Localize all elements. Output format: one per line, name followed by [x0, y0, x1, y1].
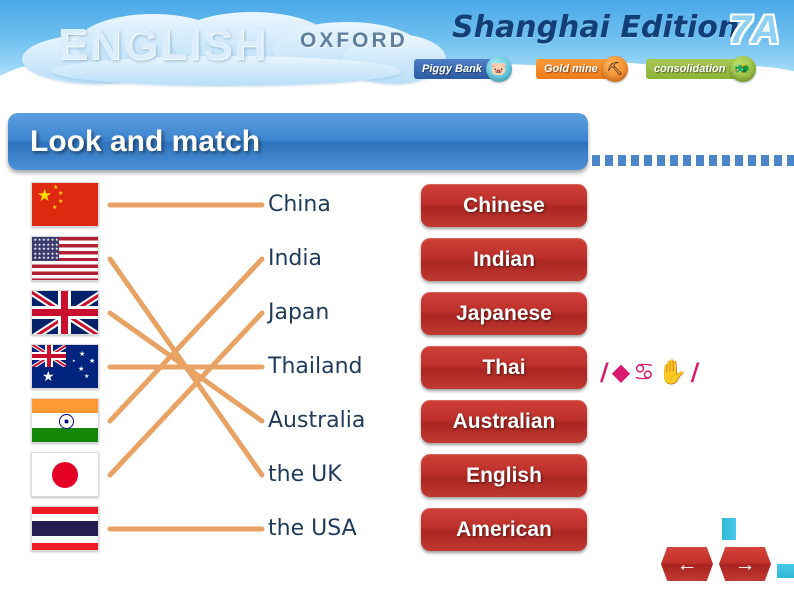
- star-icon: ★: [34, 256, 38, 260]
- nationality-button-japanese[interactable]: Japanese: [421, 292, 587, 335]
- uk-flag[interactable]: [31, 290, 99, 335]
- country-label-japan[interactable]: Japan: [268, 300, 329, 325]
- edition-title: Shanghai Edition: [452, 10, 739, 45]
- slide-header: ENGLISH OXFORD Shanghai Edition 7A Piggy…: [0, 0, 794, 96]
- star-icon: ★: [72, 359, 76, 363]
- nationality-button-australian[interactable]: Australian: [421, 400, 587, 443]
- country-label-india[interactable]: India: [268, 246, 322, 271]
- consolidation-icon: 🐲: [730, 56, 756, 82]
- nationality-button-chinese[interactable]: Chinese: [421, 184, 587, 227]
- star-icon: ★: [37, 187, 52, 204]
- star-icon: ★: [42, 369, 55, 383]
- country-label-australia[interactable]: Australia: [268, 408, 365, 433]
- nationality-button-american[interactable]: American: [421, 508, 587, 551]
- title-dashed-rule: [592, 155, 794, 166]
- country-label-china[interactable]: China: [268, 192, 331, 217]
- connector-line: [110, 259, 262, 475]
- nationality-button-thai[interactable]: Thai: [421, 346, 587, 389]
- gold-mine-icon: ⛏: [602, 56, 628, 82]
- usa-flag[interactable]: ★★★★★★★★★★★★★★★★★★★★★★★★★★★★★★: [31, 236, 99, 281]
- star-icon: ★: [84, 374, 89, 380]
- level-badge: 7A: [729, 8, 780, 53]
- star-icon: ★: [79, 351, 85, 358]
- star-icon: ★: [55, 256, 59, 260]
- country-label-the-usa[interactable]: the USA: [268, 516, 357, 541]
- nationality-button-english[interactable]: English: [421, 454, 587, 497]
- phonetic-transcription: /◆♋✋/: [600, 358, 702, 386]
- slide-root: ENGLISH OXFORD Shanghai Edition 7A Piggy…: [0, 0, 794, 596]
- badge-gold-mine[interactable]: Gold mine ⛏: [536, 58, 628, 80]
- india-flag[interactable]: [31, 398, 99, 443]
- logo-english-text: ENGLISH: [58, 20, 268, 70]
- star-icon: ★: [46, 256, 50, 260]
- star-icon: ★: [78, 366, 84, 373]
- thailand-flag[interactable]: [31, 506, 99, 551]
- section-title-bar: Look and match: [8, 113, 588, 170]
- china-flag[interactable]: ★ ★ ★ ★ ★: [31, 182, 99, 227]
- ashoka-chakra-icon: [59, 414, 74, 429]
- star-icon: ★: [89, 358, 95, 365]
- badge-consolidation[interactable]: consolidation 🐲: [646, 58, 756, 80]
- connector-line: [110, 259, 262, 421]
- piggy-bank-icon: 🐷: [486, 56, 512, 82]
- star-icon: ★: [58, 191, 63, 197]
- star-icon: ★: [38, 256, 42, 260]
- usa-canton: ★★★★★★★★★★★★★★★★★★★★★★★★★★★★★★: [32, 237, 59, 261]
- previous-slide-button[interactable]: ←: [661, 547, 713, 581]
- sun-disc-icon: [52, 462, 78, 488]
- star-icon: ★: [51, 256, 55, 260]
- next-slide-button[interactable]: →: [719, 547, 771, 581]
- country-label-the-uk[interactable]: the UK: [268, 462, 342, 487]
- japan-flag[interactable]: [31, 452, 99, 497]
- connector-line: [110, 313, 262, 421]
- star-icon: ★: [58, 199, 63, 205]
- union-jack-canton: [32, 345, 66, 367]
- badge-piggy-bank[interactable]: Piggy Bank 🐷: [414, 58, 512, 80]
- connector-line: [110, 313, 262, 475]
- star-icon: ★: [42, 256, 46, 260]
- nationality-button-indian[interactable]: Indian: [421, 238, 587, 281]
- country-label-thailand[interactable]: Thailand: [268, 354, 362, 379]
- page-title: Look and match: [30, 125, 260, 159]
- australia-flag[interactable]: ★ ★ ★ ★ ★ ★: [31, 344, 99, 389]
- star-icon: ★: [52, 205, 57, 211]
- logo-oxford-text: OXFORD: [300, 29, 408, 53]
